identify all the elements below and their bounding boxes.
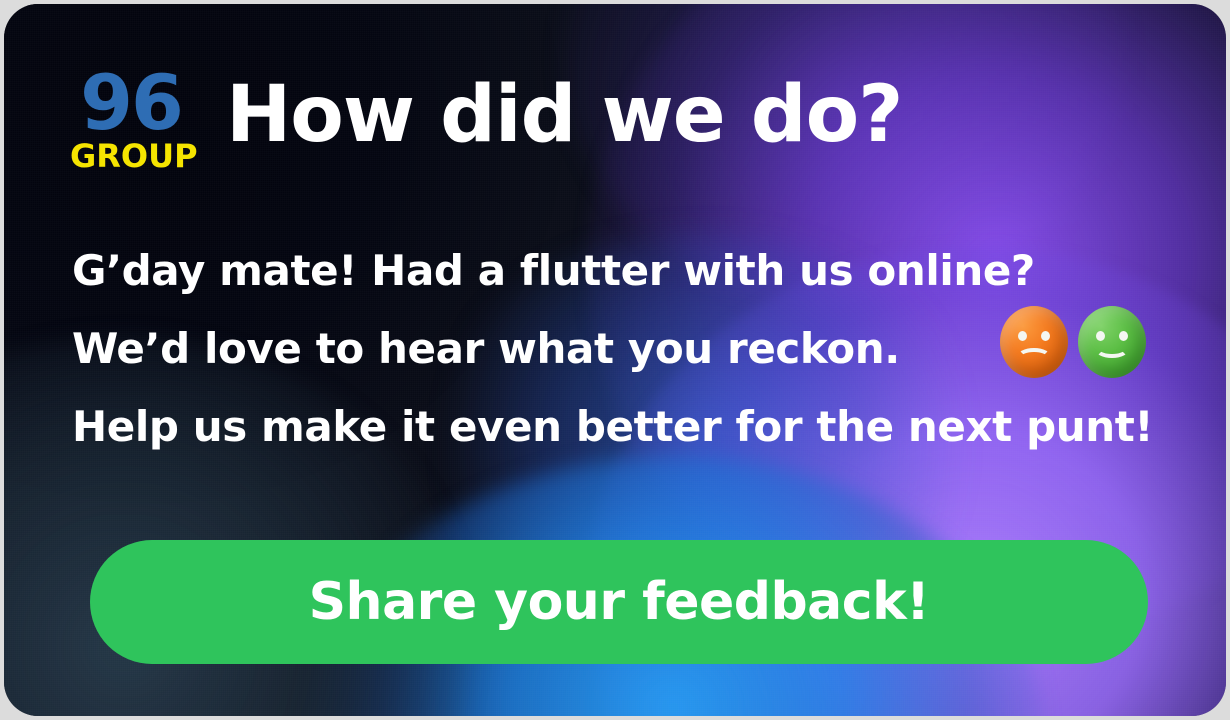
feedback-banner: 96 GROUP How did we do? G’day mate! Had …: [4, 4, 1226, 716]
sad-face-left-eye-icon: [1018, 331, 1027, 341]
logo-word-text: GROUP: [70, 140, 192, 172]
copy-line-3: Help us make it even better for the next…: [72, 388, 1172, 466]
happy-face-icon[interactable]: [1078, 306, 1146, 378]
sad-face-mouth-icon: [1017, 348, 1051, 366]
rating-faces: [1000, 306, 1146, 378]
logo-number-text: 96: [70, 68, 192, 138]
brand-logo: 96 GROUP: [70, 68, 192, 172]
happy-face-left-eye-icon: [1096, 331, 1105, 341]
copy-line-1: G’day mate! Had a flutter with us online…: [72, 232, 1172, 310]
sad-face-right-eye-icon: [1041, 331, 1050, 341]
page-title: How did we do?: [226, 76, 902, 156]
share-feedback-button[interactable]: Share your feedback!: [90, 540, 1148, 664]
sad-face-icon[interactable]: [1000, 306, 1068, 378]
banner-content: 96 GROUP How did we do? G’day mate! Had …: [4, 4, 1226, 716]
happy-face-right-eye-icon: [1119, 331, 1128, 341]
happy-face-mouth-icon: [1095, 340, 1129, 358]
